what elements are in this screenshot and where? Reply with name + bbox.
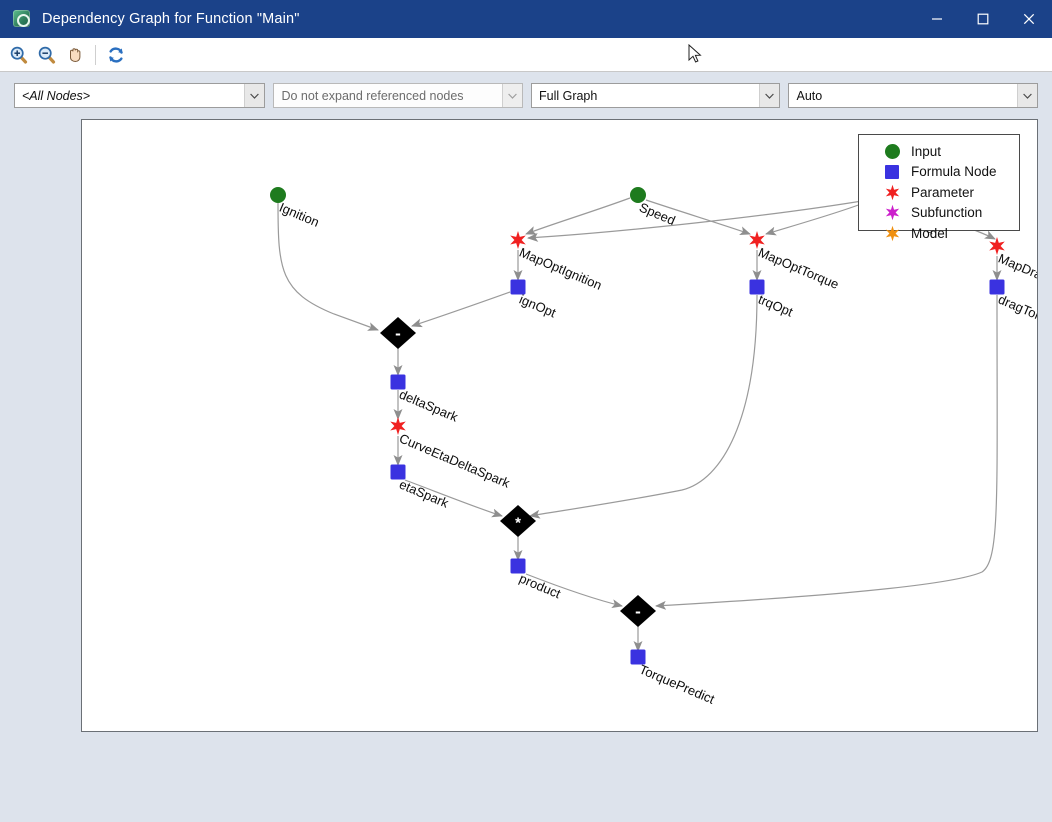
legend-item-input: Input [859, 141, 1019, 162]
mouse-cursor [688, 44, 702, 64]
graph-edge [278, 203, 378, 330]
graph-canvas[interactable]: -*- IgnitionSpeedRel_AirmaMapOptIgnition… [81, 119, 1038, 732]
graph-edge [530, 295, 757, 516]
legend-label: Model [911, 226, 948, 241]
legend-item-subfunction: Subfunction [859, 203, 1019, 224]
window-controls [914, 0, 1052, 38]
node-filter-value: <All Nodes> [22, 89, 244, 103]
maximize-icon [977, 13, 989, 25]
node-layer: -*- [270, 187, 1005, 665]
app-cube-icon [12, 9, 32, 29]
subfunction-marker-icon [881, 204, 903, 221]
zoom-out-button[interactable] [33, 42, 61, 68]
chevron-down-icon[interactable] [244, 84, 264, 107]
filter-bar: <All Nodes> Do not expand referenced nod… [0, 72, 1052, 119]
legend-item-parameter: Parameter [859, 182, 1019, 203]
graph-edge [412, 292, 510, 326]
maximize-button[interactable] [960, 0, 1006, 38]
operator-glyph: - [635, 602, 641, 621]
graph-edge [656, 295, 997, 606]
parameter-marker-icon [881, 184, 903, 201]
close-button[interactable] [1006, 0, 1052, 38]
layout-mode-value: Auto [796, 89, 1017, 103]
graph-scope-value: Full Graph [539, 89, 760, 103]
graph-node-opmul[interactable]: * [500, 505, 536, 537]
dependency-graph-window: Dependency Graph for Function "Main" [0, 0, 1052, 822]
legend-label: Input [911, 144, 941, 159]
close-icon [1023, 13, 1035, 25]
operator-glyph: - [395, 324, 401, 343]
zoom-out-icon [37, 45, 57, 65]
window-title: Dependency Graph for Function "Main" [42, 11, 300, 27]
layout-mode-combo[interactable]: Auto [788, 83, 1038, 108]
refresh-icon [106, 45, 126, 65]
legend-label: Parameter [911, 185, 974, 200]
chevron-down-icon[interactable] [502, 84, 522, 107]
model-marker-icon [881, 225, 903, 242]
formula-node-marker-icon [881, 165, 903, 179]
edge-layer [278, 198, 997, 651]
graph-scope-combo[interactable]: Full Graph [531, 83, 781, 108]
chevron-down-icon[interactable] [1017, 84, 1037, 107]
pan-button[interactable] [61, 42, 89, 68]
graph-node-opminus2[interactable]: - [620, 595, 656, 627]
legend-label: Formula Node [911, 164, 997, 179]
minimize-icon [931, 13, 943, 25]
expand-mode-combo[interactable]: Do not expand referenced nodes [273, 83, 523, 108]
graph-edge [526, 198, 630, 234]
node-filter-combo[interactable]: <All Nodes> [14, 83, 265, 108]
expand-mode-value: Do not expand referenced nodes [281, 89, 502, 103]
legend-item-formula-node: Formula Node [859, 162, 1019, 183]
toolbar-separator [95, 45, 96, 65]
canvas-area: -*- IgnitionSpeedRel_AirmaMapOptIgnition… [0, 119, 1052, 822]
title-bar: Dependency Graph for Function "Main" [0, 0, 1052, 38]
operator-glyph: * [515, 514, 521, 531]
legend-item-model: Model [859, 223, 1019, 244]
zoom-in-icon [9, 45, 29, 65]
zoom-in-button[interactable] [5, 42, 33, 68]
legend-panel: Input Formula Node Parameter [858, 134, 1020, 231]
minimize-button[interactable] [914, 0, 960, 38]
legend-label: Subfunction [911, 205, 982, 220]
input-marker-icon [881, 144, 903, 159]
graph-edge [766, 201, 869, 234]
hand-pan-icon [65, 45, 85, 65]
chevron-down-icon[interactable] [759, 84, 779, 107]
refresh-button[interactable] [102, 42, 130, 68]
graph-node-opminus1[interactable]: - [380, 317, 416, 349]
toolbar [0, 38, 1052, 72]
